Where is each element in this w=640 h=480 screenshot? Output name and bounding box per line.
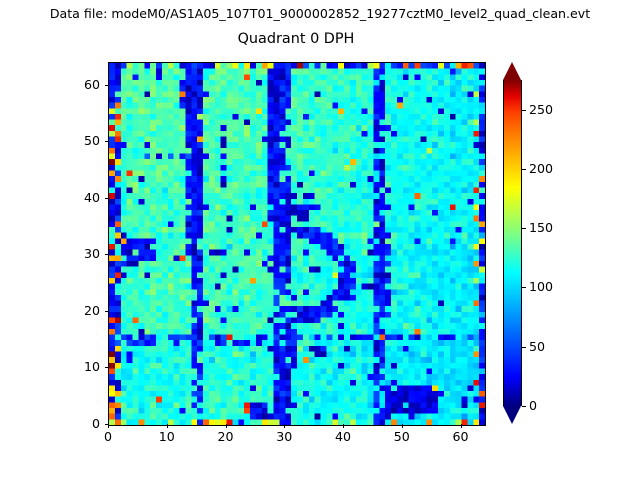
y-tick-mark <box>105 85 109 86</box>
y-tick-mark <box>105 198 109 199</box>
x-tick-mark <box>108 424 109 428</box>
y-tick-label: 50 <box>60 133 100 148</box>
detector-heatmap-image[interactable] <box>109 63 485 425</box>
y-tick-mark <box>105 311 109 312</box>
y-tick-label: 40 <box>60 190 100 205</box>
x-tick-label: 30 <box>264 429 304 444</box>
y-tick-mark <box>105 254 109 255</box>
colorbar-tick-mark <box>522 347 526 348</box>
y-tick-label: 30 <box>60 246 100 261</box>
colorbar-tick-label: 200 <box>529 161 553 176</box>
x-tick-mark <box>284 424 285 428</box>
y-tick-mark <box>105 141 109 142</box>
x-tick-label: 20 <box>206 429 246 444</box>
colorbar-tick-label: 250 <box>529 102 553 117</box>
y-tick-label: 60 <box>60 77 100 92</box>
colorbar-tick-mark <box>522 110 526 111</box>
plot-title: Quadrant 0 DPH <box>108 31 484 47</box>
y-tick-mark <box>105 367 109 368</box>
data-file-suptitle: Data file: modeM0/AS1A05_107T01_90000028… <box>0 6 640 21</box>
colorbar-tick-mark <box>522 169 526 170</box>
y-tick-label: 10 <box>60 359 100 374</box>
x-tick-label: 50 <box>382 429 422 444</box>
colorbar-tick-mark <box>522 287 526 288</box>
x-tick-label: 40 <box>323 429 363 444</box>
x-tick-label: 10 <box>147 429 187 444</box>
colorbar-gradient <box>503 80 522 406</box>
y-tick-mark <box>105 424 109 425</box>
heatmap-axes[interactable] <box>108 62 486 426</box>
y-tick-label: 20 <box>60 303 100 318</box>
y-tick-label: 0 <box>60 416 100 431</box>
colorbar-extend-min-arrow <box>503 406 521 424</box>
x-tick-mark <box>402 424 403 428</box>
colorbar-tick-label: 100 <box>529 279 553 294</box>
colorbar[interactable]: 050100150200250 <box>503 62 522 424</box>
x-tick-mark <box>167 424 168 428</box>
matplotlib-figure: Data file: modeM0/AS1A05_107T01_90000028… <box>0 0 640 480</box>
colorbar-tick-label: 150 <box>529 220 553 235</box>
colorbar-extend-max-arrow <box>503 62 521 80</box>
colorbar-tick-mark <box>522 406 526 407</box>
colorbar-tick-mark <box>522 228 526 229</box>
x-tick-label: 0 <box>88 429 128 444</box>
colorbar-tick-label: 50 <box>529 339 545 354</box>
x-tick-mark <box>461 424 462 428</box>
x-tick-label: 60 <box>441 429 481 444</box>
x-tick-mark <box>343 424 344 428</box>
x-tick-mark <box>226 424 227 428</box>
colorbar-tick-label: 0 <box>529 398 537 413</box>
